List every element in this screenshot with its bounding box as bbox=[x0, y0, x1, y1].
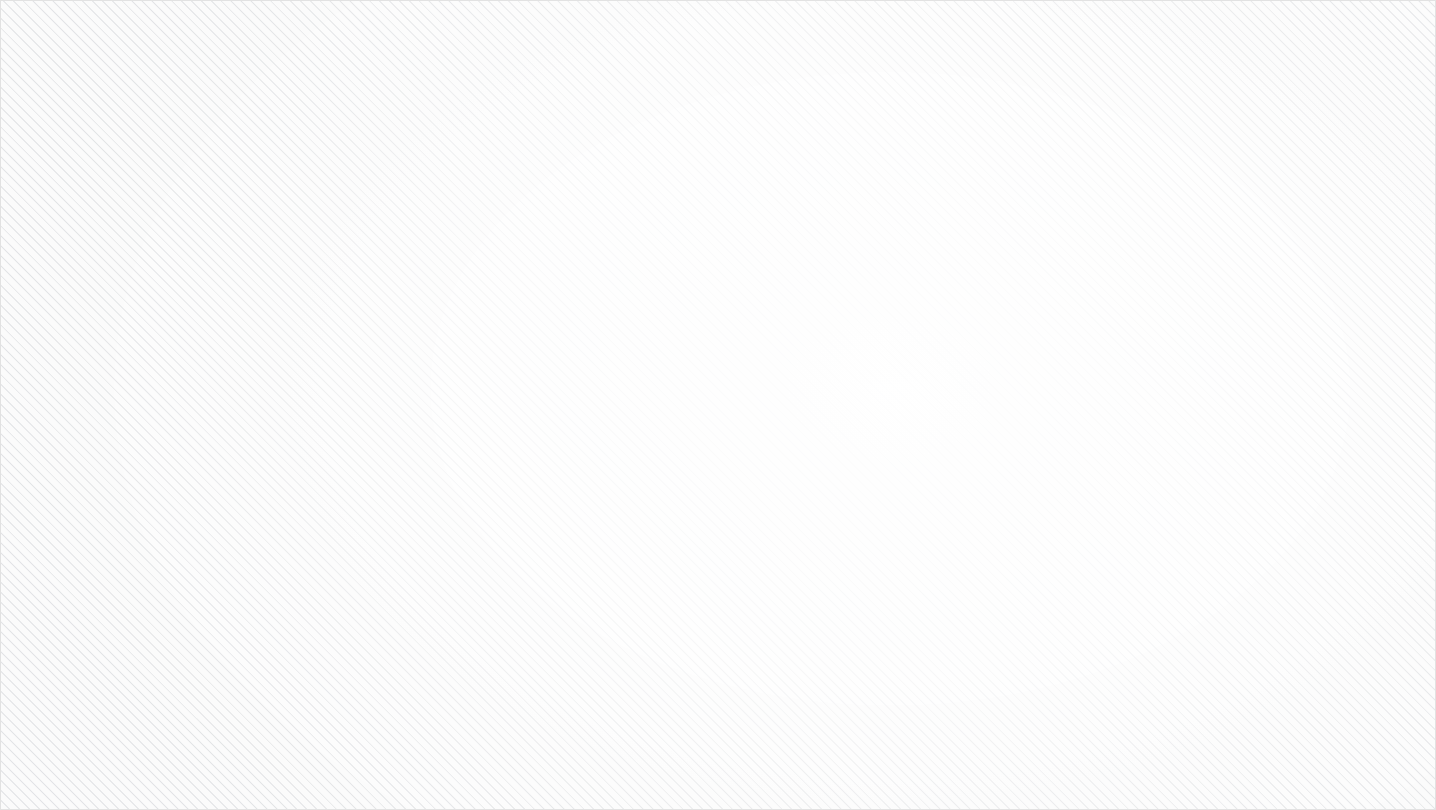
slide-canvas: Storage and Management of Lubricants | L… bbox=[0, 0, 1436, 810]
slide-border bbox=[0, 0, 1436, 810]
